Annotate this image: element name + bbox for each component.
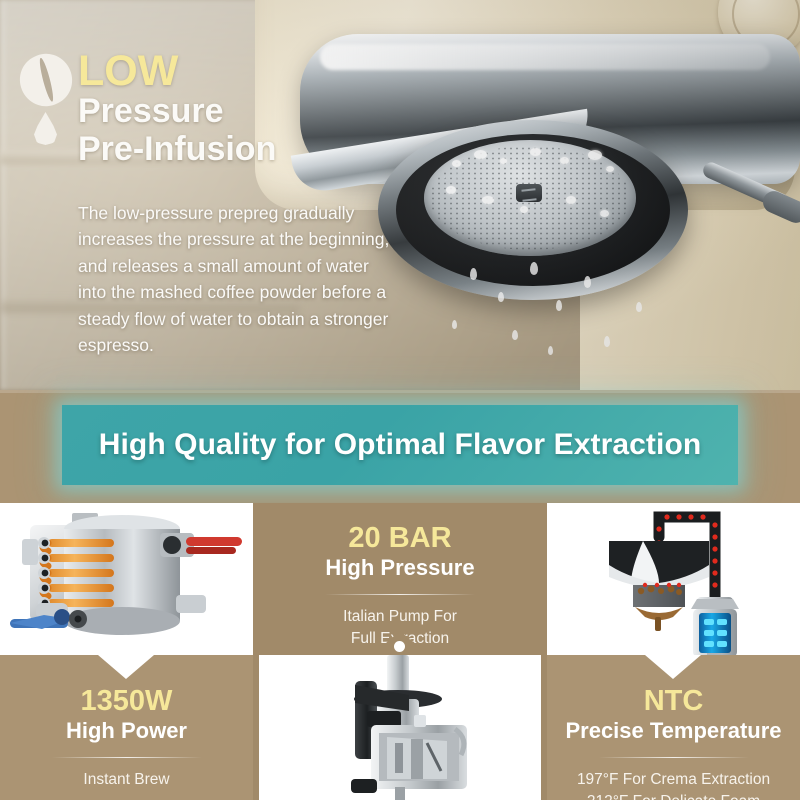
divider-rule — [52, 757, 202, 758]
feature-card-ntc: NTC Precise Temperature 197°F For Crema … — [547, 503, 800, 800]
feature-subhead: High Power — [0, 718, 253, 743]
quality-banner: High Quality for Optimal Flavor Extracti… — [62, 405, 738, 485]
hero-title-line-2: Pre-Infusion — [78, 131, 408, 168]
hero-heading-group: LOW Pressure Pre-Infusion — [78, 50, 408, 168]
features-section: 1350W High Power Instant Brew 20 BAR Hig… — [0, 503, 800, 800]
feature-subhead: High Pressure — [253, 555, 547, 580]
divider-rule — [325, 594, 475, 595]
feature-power-text: 1350W High Power Instant Brew — [0, 686, 253, 791]
hero-section: LOCK LOW Pressure Pre-Infusi — [0, 0, 800, 390]
pointer-chevron-down-icon — [645, 655, 701, 679]
ntc-diagram-illustration — [547, 503, 800, 655]
divider-rule — [599, 757, 749, 758]
italian-pump-photo — [259, 655, 541, 800]
feature-detail: Instant Brew — [0, 769, 253, 791]
hero-eyebrow: LOW — [78, 50, 408, 92]
thermoblock-heating-element-photo — [0, 503, 253, 655]
banner-band-top-edge — [0, 390, 800, 393]
infographic-page: LOCK LOW Pressure Pre-Infusi — [0, 0, 800, 800]
hero-description: The low-pressure prepreg gradually incre… — [78, 200, 400, 360]
feature-detail: Italian Pump For — [253, 606, 547, 628]
feature-headline: NTC — [547, 686, 800, 716]
quality-banner-text: High Quality for Optimal Flavor Extracti… — [99, 428, 702, 462]
pointer-chevron-down-icon — [98, 655, 154, 679]
feature-card-power: 1350W High Power Instant Brew — [0, 503, 253, 800]
feature-ntc-text: NTC Precise Temperature 197°F For Crema … — [547, 686, 800, 800]
feature-headline: 20 BAR — [253, 523, 547, 553]
feature-headline: 1350W — [0, 686, 253, 716]
ntc-temperature-sensor-diagram — [547, 503, 800, 655]
feature-detail: 197°F For Crema Extraction — [547, 769, 800, 791]
thermoblock-illustration — [0, 503, 253, 655]
hero-title-line-1: Pressure — [78, 93, 408, 130]
feature-detail-2: 212°F For Delicate Foam — [547, 791, 800, 800]
pointer-chevron-up-icon — [372, 631, 428, 655]
pump-illustration — [259, 655, 541, 800]
feature-subhead: Precise Temperature — [547, 718, 800, 743]
